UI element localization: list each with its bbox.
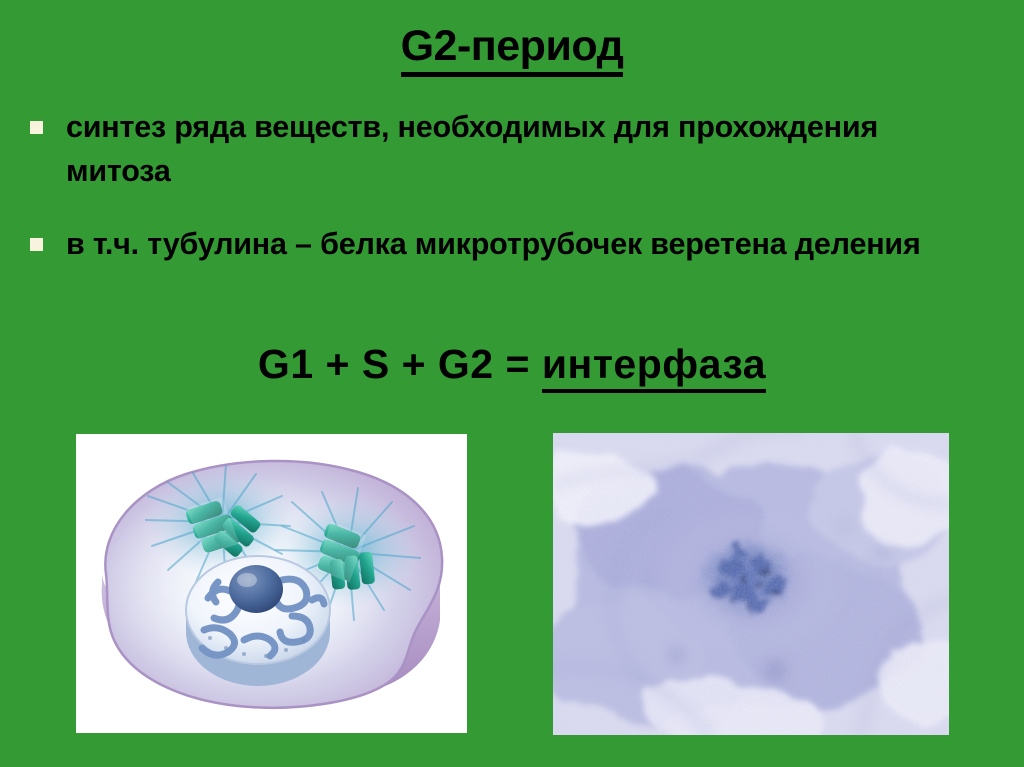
- square-bullet-icon: [30, 238, 43, 251]
- figure-cell-illustration: [76, 434, 467, 733]
- figure-light-micrograph: [553, 433, 949, 735]
- cell-illustration-graphic: [76, 434, 467, 733]
- slide-canvas: G2-период синтез ряда веществ, необходим…: [0, 0, 1024, 767]
- bullet-item-1-label: синтез ряда веществ, необходимых для про…: [66, 105, 971, 193]
- square-bullet-icon: [30, 121, 43, 134]
- interphase-formula: G1 + S + G2 = интерфаза: [0, 341, 1024, 393]
- micrograph-tint: [553, 433, 949, 735]
- light-micrograph-graphic: [553, 433, 949, 735]
- page-title: G2-период: [0, 22, 1024, 77]
- page-title-text: G2-период: [401, 22, 624, 77]
- formula-underlined-term: интерфаза: [542, 341, 766, 393]
- formula-prefix: G1 + S + G2 =: [258, 341, 542, 387]
- nucleolus-highlight: [237, 573, 257, 587]
- nucleus: [186, 556, 330, 686]
- bullet-item-2: в т.ч. тубулина – белка микротрубочек ве…: [30, 222, 990, 266]
- bullet-item-2-label: в т.ч. тубулина – белка микротрубочек ве…: [66, 222, 921, 266]
- bullet-item-1: синтез ряда веществ, необходимых для про…: [30, 105, 990, 193]
- nucleolus: [229, 565, 283, 613]
